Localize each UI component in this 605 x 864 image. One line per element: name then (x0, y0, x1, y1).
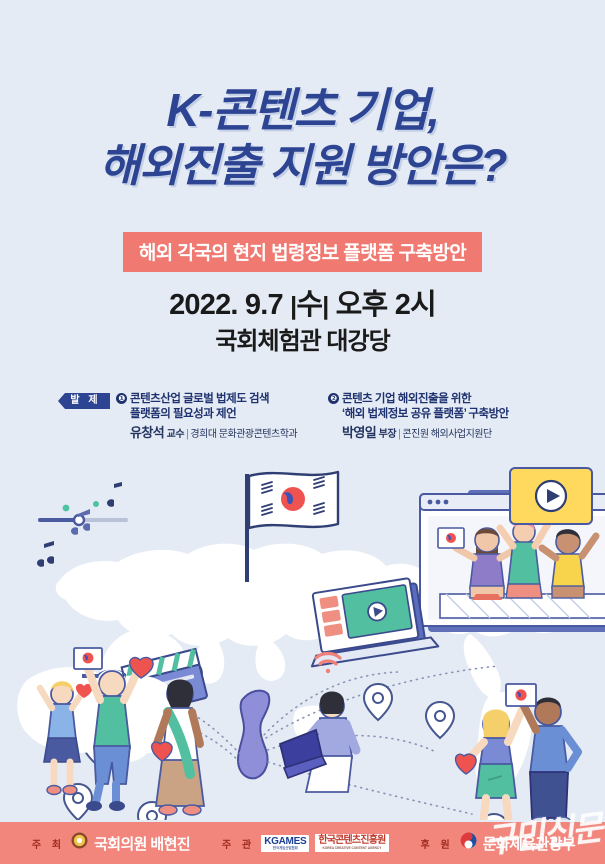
session-1-number: ❶ (116, 393, 127, 404)
event-day: 수 (296, 289, 322, 321)
location-pin (426, 702, 454, 738)
session-1-presenter-role: 교수 (167, 429, 184, 440)
kocca-logo-main: 한국콘텐츠진흥원 (318, 835, 385, 846)
event-time: 오후 2시 (336, 289, 436, 321)
session-1-title-line-1: 콘텐츠산업 글로벌 법제도 검색 (130, 393, 269, 405)
footer-group-sponsor: 후 원 문화체육관광부 (419, 832, 576, 854)
event-date: 2022. 9.7 |수| 오후 2시 (0, 288, 605, 323)
title-line-1: K-콘텐츠 기업, (0, 82, 605, 138)
footer-label-sponsor: 후 원 (419, 836, 454, 851)
session-2-divider: | (398, 428, 400, 440)
session-2-title-line-2: ‘해외 법제정보 공유 플랫폼’ 구축방안 (328, 407, 558, 422)
session-1-presenter-affiliation: 경희대 문화관광콘텐츠학과 (190, 429, 297, 440)
event-venue: 국회체험관 대강당 (0, 326, 605, 358)
footer-group-organizer: 주 관 KGAMES 한국게임산업협회 한국콘텐츠진흥원 KOREA CREAT… (220, 834, 388, 852)
poster-title: K-콘텐츠 기업, 해외진출 지원 방안은? (0, 82, 605, 194)
footer-label-host: 주 최 (30, 836, 65, 851)
schedule-block: 2022. 9.7 |수| 오후 2시 국회체험관 대강당 (0, 288, 605, 358)
music-note-icon (107, 482, 122, 507)
session-1-presenter: 유창석 교수|경희대 문화관광콘텐츠학과 (116, 426, 326, 442)
session-2-presenter-affiliation: 콘진원 해외사업지원단 (402, 429, 491, 440)
event-date-value: 2022. 9.7 (169, 289, 283, 321)
location-pin (364, 684, 392, 720)
session-item-2: ❷콘텐츠 기업 해외진출을 위한 ‘해외 법제정보 공유 플랫폼’ 구축방안 박… (328, 392, 558, 442)
session-tag-label: 발 제 (58, 393, 110, 409)
kocca-logo-sub: KOREA CREATIVE CONTENT AGENCY (318, 846, 385, 851)
session-2-title-line-1: 콘텐츠 기업 해외진출을 위한 (342, 393, 471, 405)
world-map-illustration (0, 462, 605, 820)
character-woman (456, 710, 522, 821)
footer-bar: 주 최 국회의원 배현진 주 관 KGAMES 한국게임산업협회 (0, 822, 605, 864)
footer-host-organization: 국회의원 배현진 (94, 833, 190, 854)
session-2-presenter-name: 박영일 (342, 425, 376, 440)
korean-flag-card (506, 684, 536, 706)
sessions-block: 발 제 ❶콘텐츠산업 글로벌 법제도 검색 플랫폼의 필요성과 제언 유창석 교… (0, 392, 605, 462)
korean-flag-card (74, 648, 102, 669)
footer-sponsor-organization: 문화체육관광부 (483, 833, 575, 854)
footer-label-organizer: 주 관 (220, 836, 255, 851)
session-2-presenter-role: 부장 (379, 429, 396, 440)
session-2-number: ❷ (328, 393, 339, 404)
footer-group-host: 주 최 국회의원 배현진 (30, 832, 190, 854)
session-item-1: ❶콘텐츠산업 글로벌 법제도 검색 플랫폼의 필요성과 제언 유창석 교수|경희… (116, 392, 326, 442)
subtitle-banner-wrap: 해외 각국의 현지 법령정보 플랫폼 구축방안 (0, 232, 605, 272)
korean-flag-card (438, 528, 464, 548)
audio-slider[interactable] (38, 515, 128, 525)
kocca-logo: 한국콘텐츠진흥원 KOREA CREATIVE CONTENT AGENCY (315, 834, 388, 852)
session-2-title: ❷콘텐츠 기업 해외진출을 위한 ‘해외 법제정보 공유 플랫폼’ 구축방안 (328, 392, 558, 422)
event-day-close: | (322, 292, 328, 320)
kgames-logo: KGAMES 한국게임산업협회 (261, 835, 309, 852)
session-1-title: ❶콘텐츠산업 글로벌 법제도 검색 플랫폼의 필요성과 제언 (116, 392, 326, 422)
national-assembly-emblem-icon (71, 832, 88, 854)
session-1-title-line-2: 플랫폼의 필요성과 제언 (116, 407, 326, 422)
play-button-card[interactable] (510, 468, 592, 524)
session-1-divider: | (186, 428, 188, 440)
session-1-presenter-name: 유창석 (130, 425, 164, 440)
illustration-area (0, 462, 605, 820)
kgames-logo-main: KGAMES (264, 836, 306, 847)
subtitle-banner: 해외 각국의 현지 법령정보 플랫폼 구축방안 (123, 232, 482, 272)
session-2-presenter: 박영일 부장|콘진원 해외사업지원단 (328, 426, 558, 442)
title-line-2: 해외진출 지원 방안은? (0, 138, 605, 194)
event-poster: K-콘텐츠 기업, 해외진출 지원 방안은? 해외 각국의 현지 법령정보 플랫… (0, 0, 605, 864)
taegeuk-emblem-icon (460, 832, 477, 854)
music-note-icon (37, 541, 54, 567)
